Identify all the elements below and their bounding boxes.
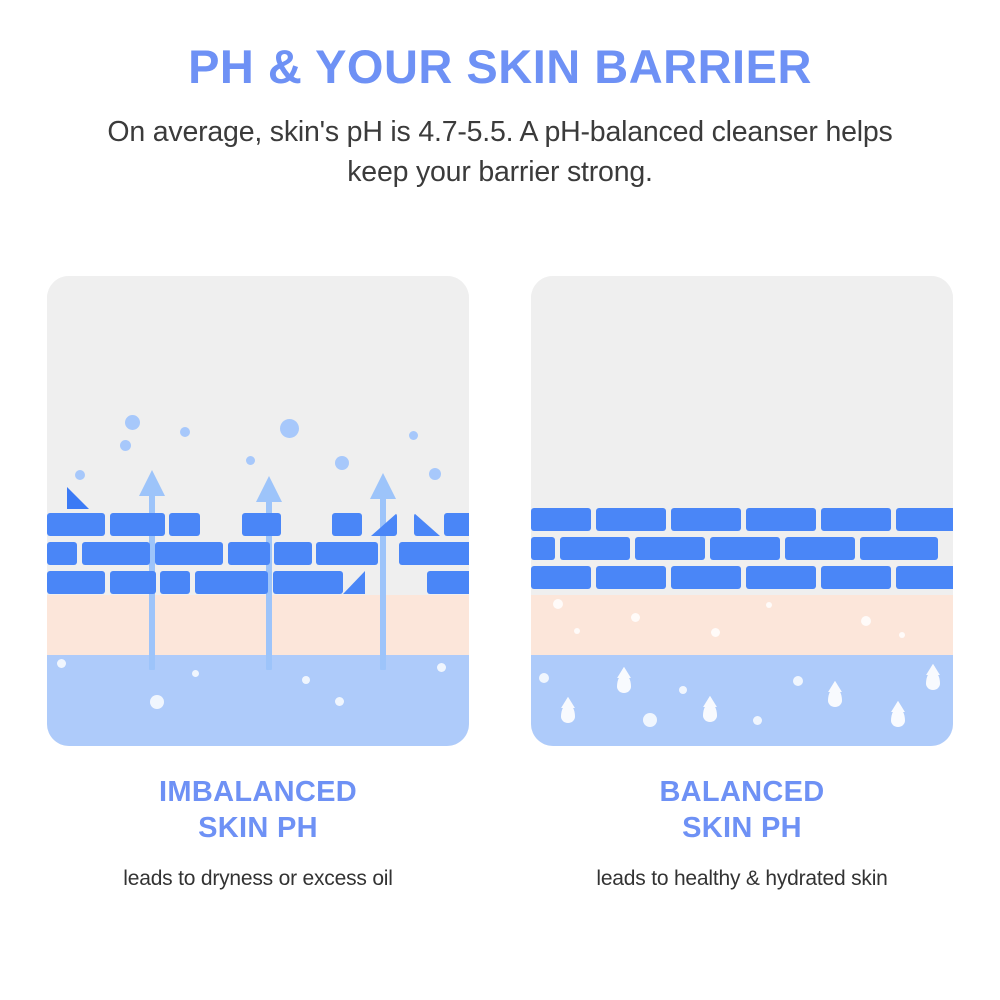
skin-cross-section-imbalanced <box>47 276 469 746</box>
water-droplet <box>703 703 717 722</box>
barrier-brick <box>47 571 105 594</box>
water-droplet <box>828 688 842 707</box>
hydration-dot <box>631 613 640 622</box>
panel-imbalanced: IMBALANCED SKIN PH leads to dryness or e… <box>47 276 469 863</box>
hydration-dot <box>437 663 446 672</box>
particle-dot <box>75 470 85 480</box>
hydration-dot <box>793 676 803 686</box>
particle-dot <box>246 456 255 465</box>
particle-dot <box>409 431 418 440</box>
barrier-brick <box>531 566 591 589</box>
caption-title-line1: IMBALANCED <box>159 776 357 808</box>
barrier-brick <box>155 542 223 565</box>
hydration-dot <box>302 676 310 684</box>
barrier-brick <box>332 513 362 536</box>
particle-dot <box>180 427 190 437</box>
panel-balanced: BALANCED SKIN PH leads to healthy & hydr… <box>531 276 953 863</box>
particle-dot <box>280 419 299 438</box>
barrier-brick <box>746 508 816 531</box>
hydration-dot <box>679 686 687 694</box>
hydration-dot <box>753 716 762 725</box>
barrier-brick <box>896 508 953 531</box>
layer-dermis-imbalanced <box>47 595 469 655</box>
particle-dot <box>335 456 349 470</box>
barrier-brick <box>635 537 705 560</box>
barrier-brick <box>47 542 77 565</box>
water-droplet <box>891 708 905 727</box>
barrier-brick <box>110 571 156 594</box>
barrier-brick <box>531 537 555 560</box>
caption-imbalanced: IMBALANCED SKIN PH leads to dryness or e… <box>47 774 469 891</box>
caption-balanced: BALANCED SKIN PH leads to healthy & hydr… <box>531 774 953 891</box>
hydration-dot <box>539 673 549 683</box>
page-subtitle: On average, skin's pH is 4.7-5.5. A pH-b… <box>105 113 895 192</box>
barrier-brick <box>444 513 469 536</box>
barrier-brick <box>596 508 666 531</box>
barrier-brick <box>785 537 855 560</box>
skin-cross-section-balanced <box>531 276 953 746</box>
particle-dot <box>125 415 140 430</box>
moisture-loss-arrow <box>377 473 389 670</box>
barrier-brick <box>671 566 741 589</box>
barrier-brick <box>860 537 938 560</box>
hydration-dot <box>57 659 66 668</box>
water-droplet <box>926 671 940 690</box>
hydration-dot <box>150 695 164 709</box>
hydration-dot <box>335 697 344 706</box>
barrier-brick <box>169 513 200 536</box>
hydration-dot <box>192 670 199 677</box>
page-title: PH & YOUR SKIN BARRIER <box>0 42 1000 91</box>
barrier-brick <box>531 508 591 531</box>
barrier-brick <box>316 542 378 565</box>
barrier-brick <box>399 542 469 565</box>
hydration-dot <box>553 599 563 609</box>
barrier-brick <box>110 513 165 536</box>
particle-dot <box>120 440 131 451</box>
caption-title-line1: BALANCED <box>659 776 824 808</box>
barrier-brick <box>274 542 312 565</box>
layer-dermis-balanced <box>531 595 953 655</box>
hydration-dot <box>711 628 720 637</box>
barrier-brick <box>47 513 105 536</box>
layer-hypodermis-balanced <box>531 655 953 746</box>
caption-subtitle: leads to dryness or excess oil <box>47 867 469 891</box>
hydration-dot <box>899 632 905 638</box>
hydration-dot <box>861 616 871 626</box>
caption-title-line2: SKIN PH <box>682 812 802 844</box>
barrier-brick <box>671 508 741 531</box>
infographic-header: PH & YOUR SKIN BARRIER On average, skin'… <box>0 0 1000 192</box>
barrier-brick <box>560 537 630 560</box>
caption-title-line2: SKIN PH <box>198 812 318 844</box>
water-droplet <box>617 674 631 693</box>
barrier-brick <box>821 508 891 531</box>
layer-hypodermis-imbalanced <box>47 655 469 746</box>
hydration-dot <box>643 713 657 727</box>
barrier-brick <box>896 566 953 589</box>
barrier-brick <box>596 566 666 589</box>
hydration-dot <box>574 628 580 634</box>
barrier-brick <box>427 571 469 594</box>
barrier-brick <box>82 542 150 565</box>
barrier-brick <box>242 513 281 536</box>
barrier-brick <box>228 542 270 565</box>
barrier-brick <box>195 571 268 594</box>
particle-dot <box>429 468 441 480</box>
caption-subtitle: leads to healthy & hydrated skin <box>531 867 953 891</box>
moisture-loss-arrow <box>146 470 158 670</box>
barrier-brick <box>746 566 816 589</box>
hydration-dot <box>766 602 772 608</box>
barrier-brick <box>160 571 190 594</box>
barrier-brick <box>273 571 343 594</box>
barrier-brick <box>710 537 780 560</box>
water-droplet <box>561 704 575 723</box>
barrier-brick <box>821 566 891 589</box>
